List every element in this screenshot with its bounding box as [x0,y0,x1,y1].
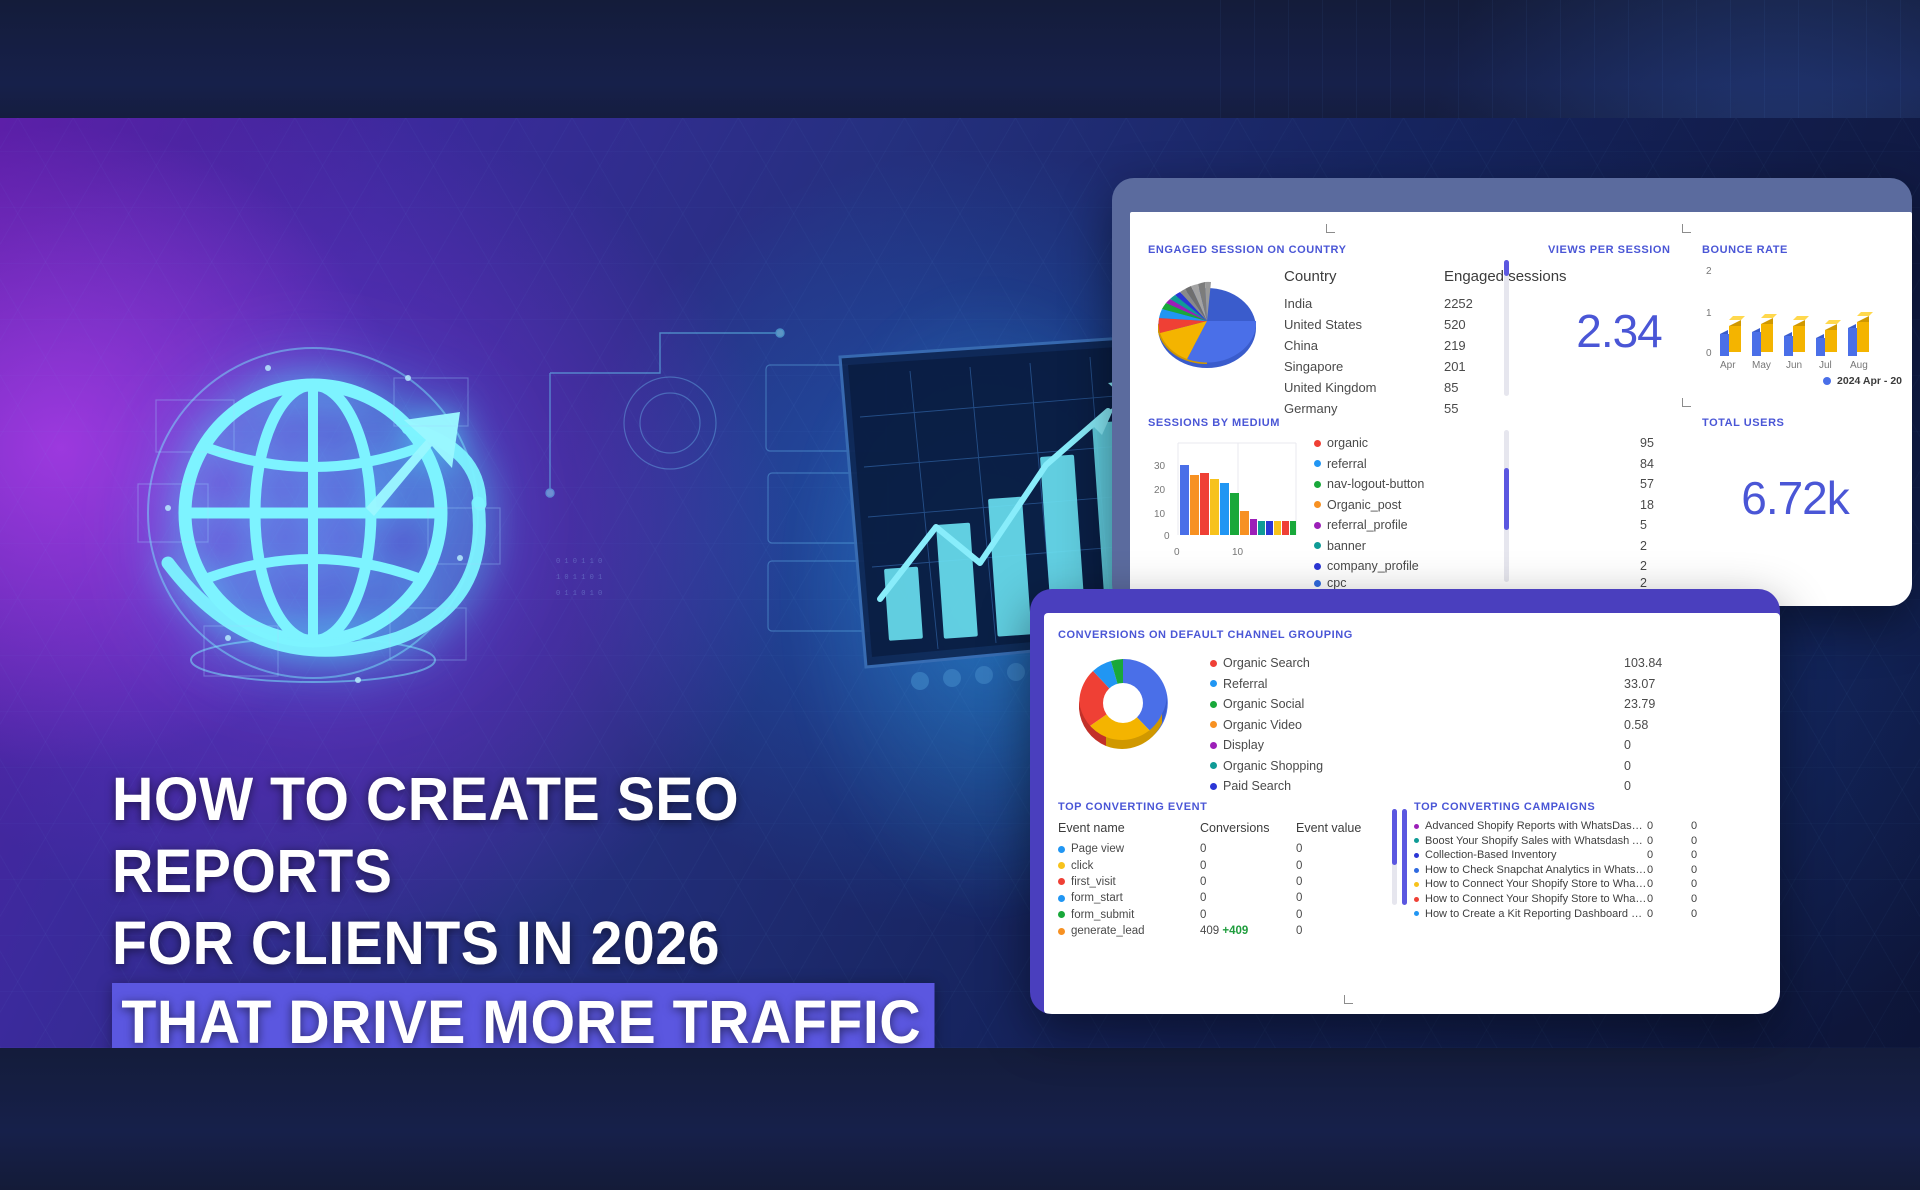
svg-text:1 0 1 1 0 1: 1 0 1 1 0 1 [556,574,602,582]
top-converting-event-scrollbar[interactable] [1392,809,1397,905]
conversions-legend: Organic Search 103.84 Referral 33.07 Org… [1210,649,1710,797]
legend-dot-icon [1314,440,1321,447]
svg-text:10: 10 [1232,547,1244,558]
resize-corner-icon[interactable] [1344,995,1353,1004]
svg-text:Jul: Jul [1819,360,1832,371]
hero-title-block: HOW TO CREATE SEO REPORTS FOR CLIENTS IN… [112,763,1032,1048]
list-item: Boost Your Shopify Sales with Whatsdash … [1414,834,1762,849]
svg-text:Apr: Apr [1720,360,1736,371]
panel-top-converting-event: TOP CONVERTING EVENT Event name Conversi… [1058,801,1378,939]
legend-dot-icon [1314,542,1321,549]
legend-dot-icon [1314,481,1321,488]
legend-dot-icon [1058,895,1065,902]
list-item: Referral 33.07 [1210,674,1710,695]
screenshot-root: 0 1 0 1 1 01 0 1 1 0 1 0 1 1 0 1 0 HOW T… [0,0,1920,1190]
svg-text:0: 0 [1706,348,1712,359]
list-item: Advanced Shopify Reports with WhatsDash™… [1414,819,1762,834]
scrollbar-thumb[interactable] [1504,468,1509,530]
legend-dot-icon [1314,580,1321,587]
bounce-rate-chart: 2 1 0 [1702,260,1902,377]
sessions-by-medium-chart: 30 20 10 0 0 10 [1148,431,1298,590]
col-country: Country [1284,266,1444,293]
legend-dot-icon [1210,701,1217,708]
resize-corner-icon[interactable] [1326,224,1335,233]
panel-bounce-rate: BOUNCE RATE 2 1 0 [1702,244,1902,387]
svg-text:2: 2 [1706,266,1712,277]
legend-dot-icon [1058,928,1065,935]
legend-dot-icon [1414,868,1419,873]
sessions-by-medium-scrollbar[interactable] [1504,430,1509,582]
svg-text:0 1 1 0 1 0: 0 1 1 0 1 0 [556,590,602,598]
legend-dot-icon [1210,762,1217,769]
panel-title-total-users: TOTAL USERS [1702,417,1902,429]
list-item: Organic Social 23.79 [1210,694,1710,715]
top-converting-campaigns-list: Advanced Shopify Reports with WhatsDash™… [1414,819,1762,921]
table-row: click 0 0 [1058,857,1378,873]
svg-text:20: 20 [1154,485,1166,496]
legend-dot-icon [1414,838,1419,843]
legend-dot-icon [1058,846,1065,853]
table-row: form_submit 0 0 [1058,907,1378,923]
hero-title-line-1: HOW TO CREATE SEO REPORTS [112,763,977,907]
top-dashboard-card: ENGAGED SESSION ON COUNTRY [1112,178,1912,606]
conversions-donut-chart [1058,649,1188,797]
panel-conversions-channel-grouping: CONVERSIONS ON DEFAULT CHANNEL GROUPING [1058,629,1758,797]
resize-corner-icon[interactable] [1682,224,1691,233]
legend-dot-icon [1210,742,1217,749]
legend-dot-icon [1058,878,1065,885]
panel-title-top-converting-event: TOP CONVERTING EVENT [1058,801,1378,813]
bottom-dashboard-surface: CONVERSIONS ON DEFAULT CHANNEL GROUPING [1044,613,1780,1014]
scrollbar-thumb[interactable] [1392,809,1397,865]
hero-title-line-2: FOR CLIENTS IN 2026 [112,907,977,979]
legend-dot-icon [1058,862,1065,869]
scrollbar-thumb[interactable] [1504,260,1509,276]
legend-dot-icon [1210,783,1217,790]
list-item: How to Connect Your Shopify Store to Wha… [1414,892,1762,907]
legend-dot-icon [1210,680,1217,687]
campaigns-scrollbar[interactable] [1402,809,1407,905]
table-row: form_start 0 0 [1058,890,1378,906]
legend-dot-icon [1414,882,1419,887]
legend-dot-icon [1414,853,1419,858]
panel-title-sessions-by-medium: SESSIONS BY MEDIUM [1148,417,1708,429]
col-conversions: Conversions [1200,821,1296,841]
panel-views-per-session: VIEWS PER SESSION 2.34 [1548,244,1708,358]
legend-dot-icon [1314,460,1321,467]
hero-title-line-3: THAT DRIVE MORE TRAFFIC [112,983,934,1048]
table-row: Singapore201 [1284,356,1656,377]
legend-dot-icon [1314,522,1321,529]
svg-text:Jun: Jun [1786,360,1802,371]
bottom-dashboard-card: CONVERSIONS ON DEFAULT CHANNEL GROUPING [1030,589,1780,1014]
panel-total-users: TOTAL USERS 6.72k [1702,417,1902,525]
panel-title-top-converting-campaigns: TOP CONVERTING CAMPAIGNS [1414,801,1762,813]
panel-top-converting-campaigns: TOP CONVERTING CAMPAIGNS Advanced Shopif… [1414,801,1762,921]
total-users-value: 6.72k [1702,471,1902,525]
col-event-name: Event name [1058,821,1200,841]
list-item: How to Create a Kit Reporting Dashboard … [1414,907,1762,922]
list-item: Organic Search 103.84 [1210,653,1710,674]
panel-title-views-per-session: VIEWS PER SESSION [1548,244,1708,256]
page-bottom-frame [0,1044,1920,1190]
svg-text:May: May [1752,360,1771,371]
legend-dot-icon [1314,501,1321,508]
panel-title-bounce-rate: BOUNCE RATE [1702,244,1902,256]
svg-text:1: 1 [1706,308,1712,319]
panel-sessions-by-medium: SESSIONS BY MEDIUM 30 20 10 [1148,417,1708,590]
legend-dot-icon [1414,897,1419,902]
svg-text:0: 0 [1164,531,1170,542]
views-per-session-value: 2.34 [1548,304,1708,358]
bounce-rate-legend-label: 2024 Apr - 20 [1837,375,1902,387]
table-row: Page view 0 0 [1058,841,1378,857]
svg-text:30: 30 [1154,461,1166,472]
table-row: generate_lead 409 +409 0 [1058,923,1378,939]
list-item: How to Connect Your Shopify Store to Wha… [1414,877,1762,892]
top-converting-event-table: Event name Conversions Event value Page … [1058,821,1378,939]
list-item: Paid Search 0 [1210,776,1710,797]
svg-text:0: 0 [1174,547,1180,558]
legend-dot-icon [1414,824,1419,829]
legend-dot-icon [1414,911,1419,916]
legend-dot-icon [1314,563,1321,570]
list-item: How to Check Snapchat Analytics in Whats… [1414,863,1762,878]
list-item: Collection-Based Inventory 0 0 [1414,848,1762,863]
table-row: Germany55 [1284,398,1656,419]
list-item: Organic Video 0.58 [1210,715,1710,736]
engaged-session-pie-chart [1148,266,1266,419]
svg-text:0 1 0 1 1 0: 0 1 0 1 1 0 [556,558,602,566]
legend-dot-icon [1210,660,1217,667]
top-dashboard-surface: ENGAGED SESSION ON COUNTRY [1130,212,1912,606]
table-row: United Kingdom85 [1284,377,1656,398]
engaged-session-scrollbar[interactable] [1504,260,1509,396]
panel-title-conversions: CONVERSIONS ON DEFAULT CHANNEL GROUPING [1058,629,1758,641]
col-event-value: Event value [1296,821,1378,841]
list-item: Display 0 [1210,735,1710,756]
table-row: first_visit 0 0 [1058,874,1378,890]
list-item: Organic Shopping 0 [1210,756,1710,777]
svg-text:Aug: Aug [1850,360,1868,371]
legend-dot-icon [1058,911,1065,918]
globe-arrow-icon [108,308,528,728]
legend-dot-icon [1210,721,1217,728]
legend-dot-icon [1823,377,1831,385]
svg-text:10: 10 [1154,509,1166,520]
